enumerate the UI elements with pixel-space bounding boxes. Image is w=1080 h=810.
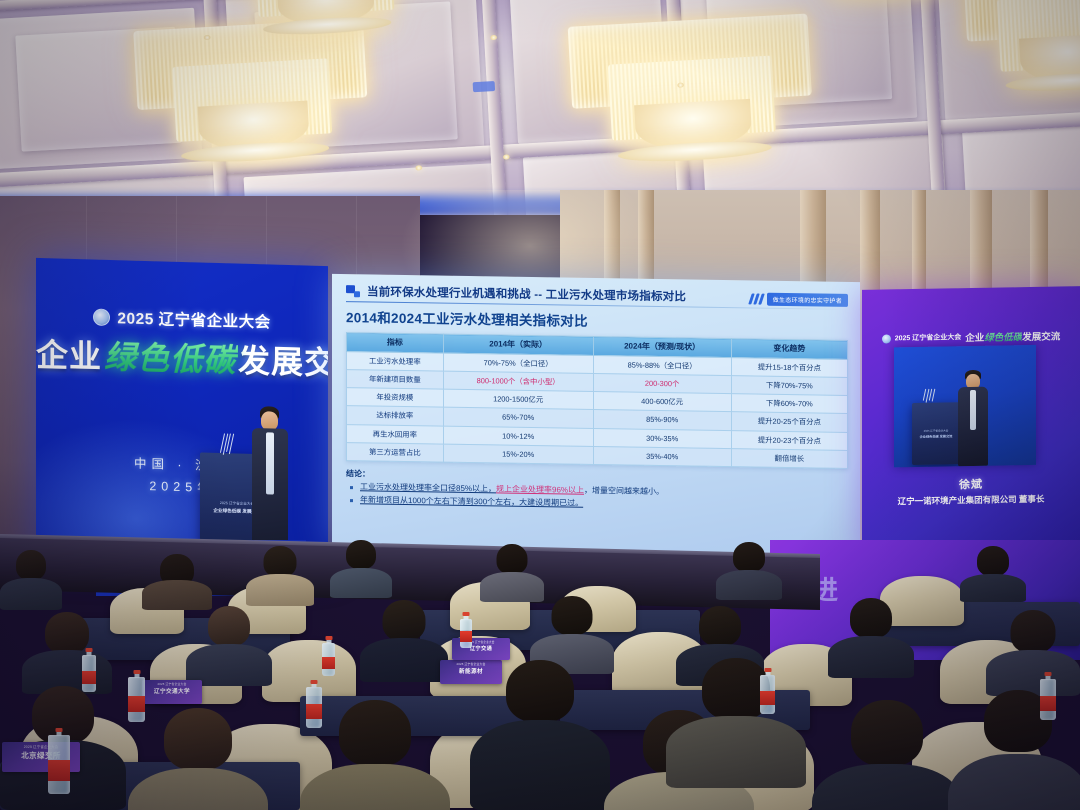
headline-part1: 企业 <box>36 337 102 375</box>
table-cell-y2024: 30%-35% <box>593 428 731 448</box>
table-cell-y2024: 85%-90% <box>593 410 731 430</box>
attendee <box>22 612 112 694</box>
table-col-1: 2014年（实际） <box>443 334 593 355</box>
main-presentation-screen: 当前环保水处理行业机遇和挑战 -- 工业污水处理市场指标对比 做生态环境的忠实守… <box>332 274 860 554</box>
attendee <box>960 546 1026 602</box>
table-cell-y2024: 85%-88%（全口径） <box>593 355 731 375</box>
table-cell-y2024: 200-300个 <box>593 373 731 393</box>
slogan-badge: 做生态环境的忠实守护者 <box>750 292 848 307</box>
attendee <box>128 708 268 810</box>
table-cell-y2024: 35%-40% <box>593 446 731 466</box>
water-bottle-icon <box>460 612 472 648</box>
attendee <box>0 550 62 610</box>
table-cell-indicator: 工业污水处理率 <box>347 351 444 371</box>
attendee <box>186 606 272 686</box>
right-headline-part1: 企业 <box>965 333 984 344</box>
placard-event: 2025 辽宁省企业大会 <box>142 682 202 686</box>
speaker-video-feed: 2025 辽宁省企业大会 企业绿色低碳 发展交流 <box>894 345 1036 467</box>
attendee <box>300 700 450 810</box>
attendee <box>246 546 314 606</box>
water-bottle-icon <box>760 668 775 714</box>
conference-emblem-icon <box>882 334 891 343</box>
left-screen-headline: 企业绿色低碳发展交流 <box>36 330 328 384</box>
right-led-screen: 2025 辽宁省企业大会 企业绿色低碳发展交流 2025 辽宁省企业大会 企业绿… <box>862 286 1080 558</box>
attendee <box>828 598 914 678</box>
water-bottle-icon <box>1040 672 1056 720</box>
chandelier-icon <box>133 18 370 159</box>
water-bottle-icon <box>306 680 322 728</box>
right-headline-part2: 发展交流 <box>1022 331 1060 343</box>
attendee <box>330 540 392 598</box>
right-screen-header: 2025 辽宁省企业大会 企业绿色低碳发展交流 <box>862 328 1080 346</box>
microphone-icon <box>222 433 232 455</box>
table-placard: 2025 辽宁省企业大会 新能源材 <box>440 660 502 684</box>
table-cell-trend: 提升15-18个百分点 <box>731 357 847 377</box>
table-col-0: 指标 <box>347 333 444 353</box>
table-cell-indicator: 达标排放率 <box>347 406 444 426</box>
left-screen-logo-row: 2025 辽宁省企业大会 <box>36 304 328 334</box>
table-col-2: 2024年（预测/现状） <box>593 336 731 357</box>
attendee <box>948 690 1080 810</box>
slide-title: 2014和2024工业污水处理相关指标对比 <box>346 306 848 334</box>
audience-area: 2025 辽宁省企业大会 北京绿交所 2025 辽宁省企业大会 辽宁交通大学 2… <box>0 540 1080 810</box>
left-led-screen: 2025 辽宁省企业大会 企业绿色低碳发展交流 中国 · 沈阳 2025年 20… <box>36 258 328 564</box>
water-bottle-icon <box>128 670 145 722</box>
right-headline-green: 绿色低碳 <box>984 332 1022 344</box>
table-cell-y2014: 10%-12% <box>443 426 593 447</box>
table-cell-y2014: 15%-20% <box>443 444 593 465</box>
comparison-table: 指标2014年（实际）2024年（预测/现状）变化趋势 工业污水处理率70%-7… <box>346 332 848 469</box>
speaker-in-video <box>956 370 990 467</box>
conclusion-block: 结论： 工业污水处理处理率全口径85%以上，规上企业处理率96%以上，增量空间越… <box>346 468 848 514</box>
water-bottle-icon <box>82 648 96 692</box>
table-cell-trend: 下降60%-70% <box>731 394 847 414</box>
speaker-name: 徐斌 <box>862 474 1080 494</box>
speaker-role: 辽宁一诺环境产业集团有限公司 董事长 <box>862 492 1080 508</box>
table-cell-trend: 下降70%-75% <box>731 376 847 396</box>
table-cell-y2014: 65%-70% <box>443 407 593 428</box>
placard-org: 辽宁交通大学 <box>142 687 202 695</box>
table-cell-y2014: 1200-1500亿元 <box>443 389 593 410</box>
right-screen-event-title: 2025 辽宁省企业大会 <box>895 332 962 343</box>
ceiling <box>0 0 1080 215</box>
table-col-3: 变化趋势 <box>731 339 847 360</box>
chandelier-icon <box>963 0 1080 89</box>
table-cell-trend: 翻倍增长 <box>731 448 847 468</box>
placard-event: 2025 辽宁省企业大会 <box>440 662 502 666</box>
video-podium: 2025 辽宁省企业大会 企业绿色低碳 发展交流 <box>912 402 960 465</box>
table-cell-y2014: 70%-75%（全口径） <box>443 353 593 374</box>
water-bottle-icon <box>48 728 70 794</box>
table-cell-trend: 提升20-25个百分点 <box>731 412 847 432</box>
square-bullet-icon <box>346 285 360 297</box>
microphone-icon <box>924 389 934 403</box>
table-placard: 2025 辽宁省企业大会 辽宁交通大学 <box>142 680 202 704</box>
ceiling-coffer-grid <box>0 0 1080 215</box>
air-vent-icon <box>473 81 496 92</box>
conference-photo: 2025 辽宁省企业大会 企业绿色低碳发展交流 中国 · 沈阳 2025年 20… <box>0 0 1080 810</box>
attendee <box>986 610 1080 696</box>
attendee <box>666 658 806 788</box>
attendee <box>360 600 448 682</box>
table-cell-indicator: 年投资规模 <box>347 388 444 408</box>
slogan-text: 做生态环境的忠实守护者 <box>767 293 848 307</box>
chandelier-icon <box>568 13 815 158</box>
attendee <box>812 700 962 810</box>
conclusion-lead: 工业污水处理处理率全口径85%以上， <box>360 483 496 494</box>
slash-decoration-icon <box>750 293 763 304</box>
attendee <box>142 554 212 610</box>
table-cell-trend: 提升20-23个百分点 <box>731 430 847 450</box>
headline-green: 绿色低碳 <box>102 339 238 379</box>
conference-emblem-icon <box>93 308 110 325</box>
table-cell-indicator: 年新建项目数量 <box>347 370 444 390</box>
water-bottle-icon <box>322 636 335 676</box>
table-cell-indicator: 再生水回用率 <box>347 424 444 444</box>
table-cell-indicator: 第三方运营占比 <box>347 442 444 462</box>
left-screen-event-title: 2025 辽宁省企业大会 <box>117 306 270 332</box>
right-screen-headline: 企业绿色低碳发展交流 <box>965 328 1060 344</box>
headline-part2: 发展交流 <box>238 343 328 383</box>
conclusion-tail: ，增量空间越来越小。 <box>584 486 664 496</box>
conclusion-emphasis: 规上企业处理率96%以上 <box>496 485 584 495</box>
attendee <box>716 542 782 600</box>
placard-org: 新能源材 <box>440 667 502 675</box>
video-podium-line1: 2025 辽宁省企业大会 <box>912 428 960 433</box>
table-cell-y2024: 400-600亿元 <box>593 392 731 412</box>
table-cell-y2014: 800-1000个（含中小型） <box>443 371 593 392</box>
attendee <box>480 544 544 602</box>
conclusion-lead: 年新增项目从1000个左右下清到300个左右，大建设周期已过。 <box>360 495 583 508</box>
video-podium-line2: 企业绿色低碳 发展交流 <box>912 433 960 439</box>
